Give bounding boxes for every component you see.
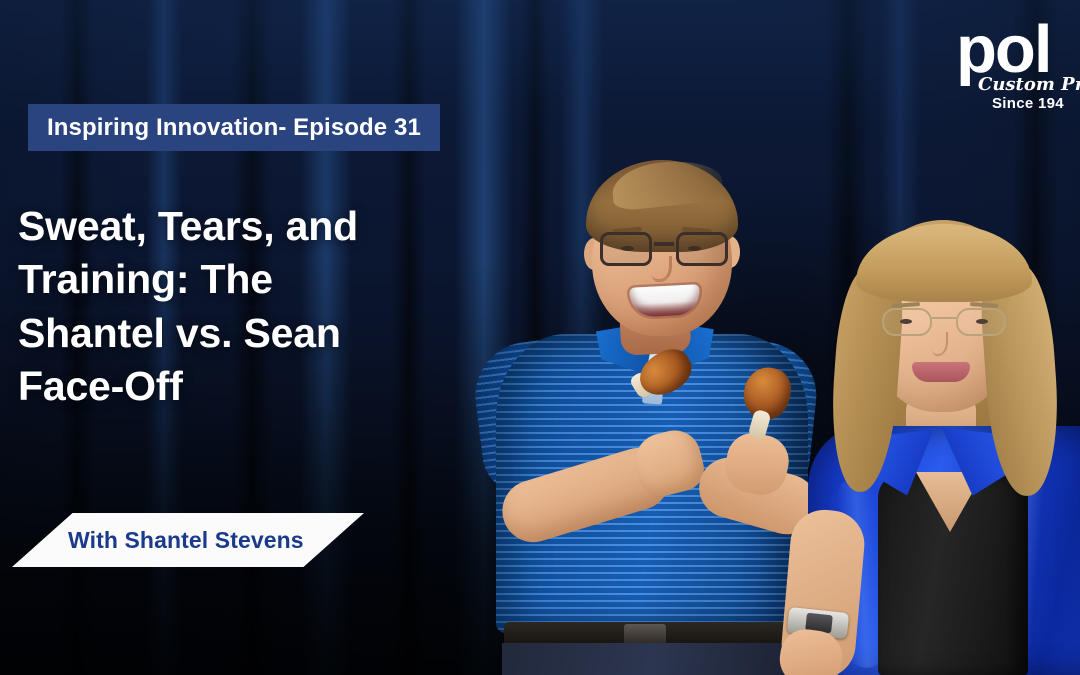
host-banner: With Shantel Stevens bbox=[12, 513, 364, 567]
page-title: Sweat, Tears, and Training: The Shantel … bbox=[18, 200, 488, 413]
man-glasses-bridge bbox=[654, 242, 674, 246]
woman-glasses-lens-right bbox=[956, 308, 1006, 336]
episode-badge: Inspiring Innovation- Episode 31 bbox=[28, 104, 440, 151]
woman-bangs bbox=[856, 224, 1032, 302]
man-glasses-lens-right bbox=[676, 232, 728, 266]
subject-woman bbox=[790, 210, 1080, 675]
episode-thumbnail: Inspiring Innovation- Episode 31 Sweat, … bbox=[0, 0, 1080, 675]
logo-wordmark: pol bbox=[956, 22, 1080, 78]
title-line-2: Training: The bbox=[18, 253, 488, 306]
man-belt-buckle bbox=[624, 624, 666, 645]
woman-smile bbox=[912, 362, 970, 382]
title-line-1: Sweat, Tears, and bbox=[18, 200, 488, 253]
woman-glasses-lens-left bbox=[882, 308, 932, 336]
man-glasses-lens-left bbox=[600, 232, 652, 266]
title-line-4: Face-Off bbox=[18, 360, 488, 413]
host-banner-label: With Shantel Stevens bbox=[12, 513, 364, 567]
title-line-3: Shantel vs. Sean bbox=[18, 307, 488, 360]
woman-glasses-bridge bbox=[932, 317, 956, 319]
logo-established: Since 194 bbox=[956, 96, 1080, 113]
episode-badge-label: Inspiring Innovation- Episode 31 bbox=[47, 114, 421, 142]
brand-logo: pol Custom Pr Since 194 bbox=[956, 22, 1080, 113]
man-trousers bbox=[502, 643, 802, 675]
